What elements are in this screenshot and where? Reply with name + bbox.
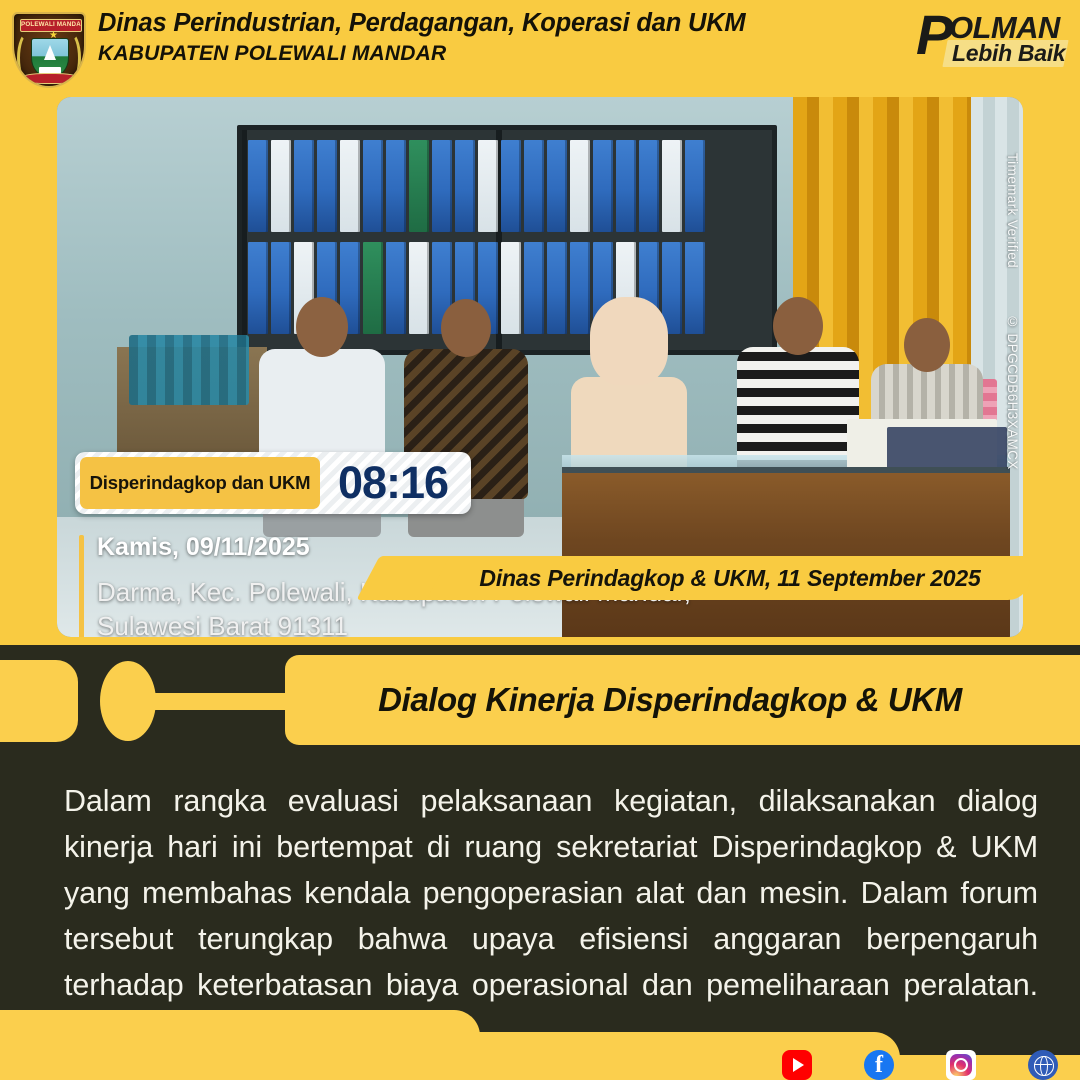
youtube-icon[interactable] — [782, 1050, 812, 1080]
header-line-2: KABUPATEN POLEWALI MANDAR — [98, 40, 878, 67]
timemark-watermark: Timemark Verified © DPGCDB6H3XAMCX — [998, 153, 1020, 473]
polman-tagline: Lebih Baik — [952, 41, 1065, 66]
page-title: Dialog Kinerja Disperindagkop & UKM — [378, 681, 962, 719]
social-icon-bar: f — [782, 1050, 1058, 1080]
timemark-clock: 08:16 — [323, 454, 463, 512]
timemark-accent-bar — [79, 535, 84, 637]
website-globe-icon[interactable] — [1028, 1050, 1058, 1080]
photo-caption-ribbon: Dinas Perindagkop & UKM, 11 September 20… — [430, 556, 1030, 600]
polman-logo: P OLMAN Lebih Baik — [916, 8, 1066, 70]
title-decor-tab — [0, 660, 78, 742]
polman-logo-text: OLMAN — [949, 12, 1060, 43]
polewali-mandar-crest-icon: POLEWALI MANDAR ★ — [8, 8, 86, 88]
title-decor-dot — [100, 661, 156, 741]
timemark-date: Kamis, 09/11/2025 — [97, 533, 310, 562]
watermark-code-text: © DPGCDB6H3XAMCX — [1005, 314, 1020, 470]
title-decor-connector — [150, 693, 298, 710]
title-banner: Dialog Kinerja Disperindagkop & UKM — [285, 655, 1080, 745]
timemark-stamp-widget: Disperindagkop dan UKM 08:16 — [75, 452, 471, 514]
instagram-icon[interactable] — [946, 1050, 976, 1080]
facebook-icon[interactable]: f — [864, 1050, 894, 1080]
header-title-block: Dinas Perindustrian, Perdagangan, Kopera… — [98, 8, 878, 67]
timemark-office-label: Disperindagkop dan UKM — [80, 457, 320, 509]
header-bar: POLEWALI MANDAR ★ Dinas Perindustrian, P… — [0, 0, 1080, 92]
poster-canvas: POLEWALI MANDAR ★ Dinas Perindustrian, P… — [0, 0, 1080, 1080]
photo-file-rack — [129, 335, 249, 405]
header-line-1: Dinas Perindustrian, Perdagangan, Kopera… — [98, 8, 878, 39]
watermark-verified-text: Timemark Verified — [1005, 153, 1020, 268]
